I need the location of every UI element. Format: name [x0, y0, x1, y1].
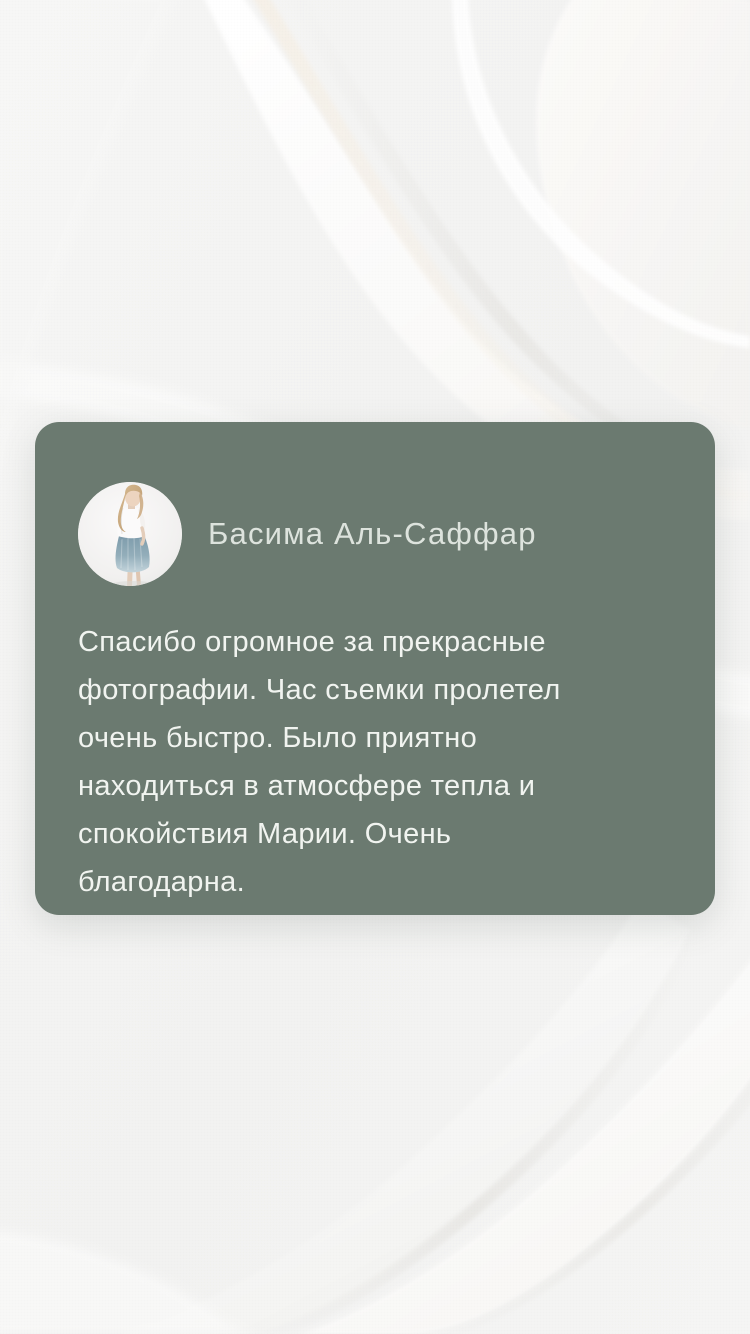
story-screen: Басима Аль-Саффар Спасибо огромное за пр…: [0, 0, 750, 1334]
testimonial-card: Басима Аль-Саффар Спасибо огромное за пр…: [35, 422, 715, 915]
avatar-photo-icon: [78, 482, 182, 586]
quote-line: спокойствия Марии. Очень: [78, 810, 653, 858]
quote-line: Спасибо огромное за прекрасные: [78, 618, 653, 666]
testimonial-header: Басима Аль-Саффар: [78, 482, 659, 586]
quote-line: находиться в атмосфере тепла и: [78, 762, 653, 810]
avatar: [78, 482, 182, 586]
quote-line: благодарна.: [78, 858, 653, 906]
quote-line: фотографии. Час съемки пролетел: [78, 666, 653, 714]
author-name: Басима Аль-Саффар: [208, 517, 537, 551]
quote-line: очень быстро. Было приятно: [78, 714, 653, 762]
testimonial-quote: Спасибо огромное за прекрасные фотографи…: [78, 586, 653, 906]
